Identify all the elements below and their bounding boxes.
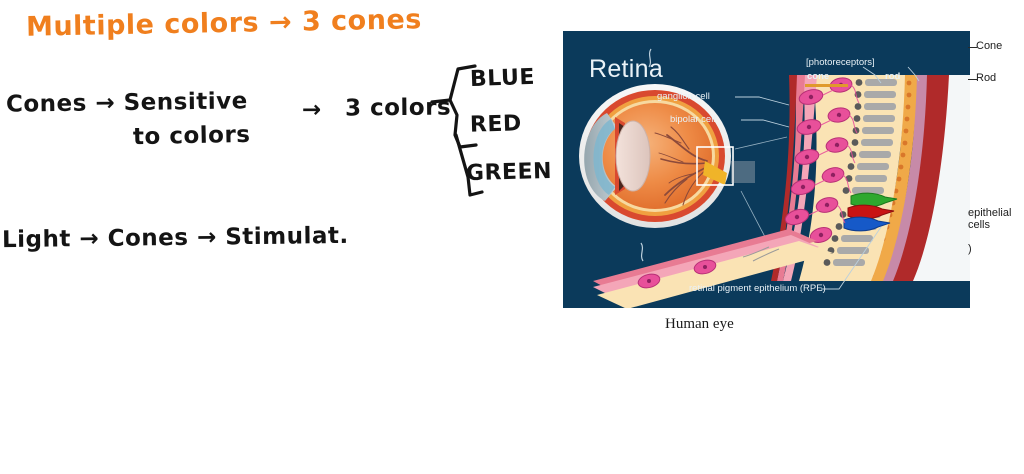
edge-label-paren: ) bbox=[968, 243, 972, 255]
note-title-multiple-colors: Multiple colors → 3 cones bbox=[26, 4, 422, 43]
note-color-green: GREEN bbox=[466, 159, 553, 186]
label-ganglion-cell: ganglion cell bbox=[657, 91, 710, 102]
label-cone: cone bbox=[807, 71, 829, 82]
retina-panel-title: Retina bbox=[589, 55, 663, 84]
edge-label-cone: Cone bbox=[976, 40, 1002, 52]
note-to-colors: to colors bbox=[133, 122, 251, 150]
label-bipolar-cell: bipolar cell bbox=[670, 114, 715, 125]
edge-label-epithelial-line2: cells bbox=[968, 219, 1011, 231]
label-retinal-pigment-epithelium: retinal pigment epithelium (RPE) bbox=[689, 283, 826, 294]
note-cones-sensitive: Cones → Sensitive bbox=[6, 88, 248, 117]
handwritten-notes-area: Multiple colors → 3 cones Cones → Sensit… bbox=[0, 0, 565, 474]
edge-label-rod: Rod bbox=[976, 72, 996, 84]
note-color-red: RED bbox=[470, 111, 522, 137]
figure-caption-human-eye: Human eye bbox=[665, 316, 734, 333]
edge-label-epithelial-line1: epithelial bbox=[968, 207, 1011, 219]
note-arrow-to-three-colors: → bbox=[302, 97, 322, 123]
label-photoreceptors: [photoreceptors] bbox=[806, 57, 875, 68]
cone-label-underline bbox=[805, 84, 848, 87]
label-rod: rod bbox=[885, 71, 900, 82]
human-eye-figure: Retina ganglion cell bipolar cell [photo… bbox=[563, 31, 1024, 341]
retina-diagram-panel: Retina ganglion cell bipolar cell [photo… bbox=[563, 31, 970, 308]
note-light-cones-stimulate: Light → Cones → Stimulat. bbox=[2, 223, 349, 253]
note-color-blue: BLUE bbox=[470, 65, 536, 92]
edge-label-epithelial-cells: epithelial cells bbox=[968, 207, 1011, 231]
